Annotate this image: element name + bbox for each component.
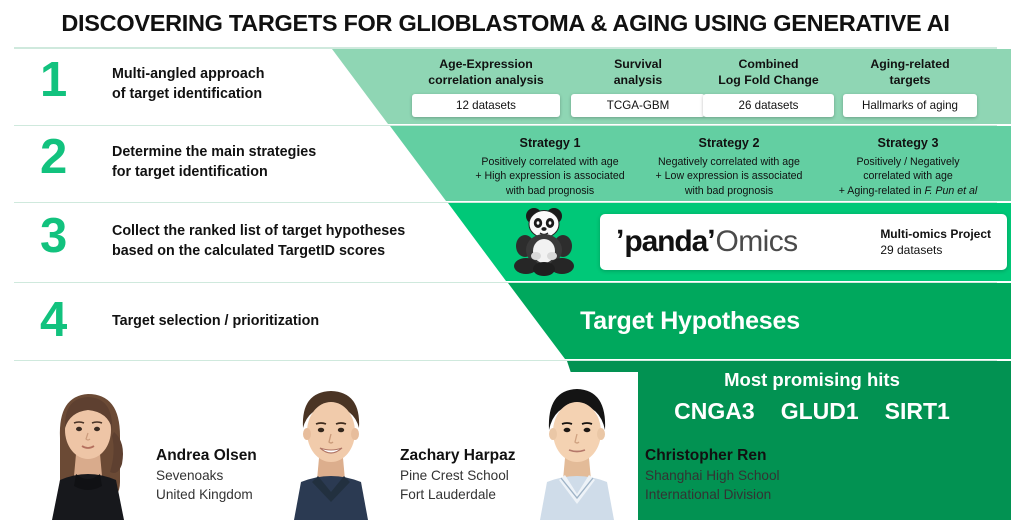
strategy-3-line3-text: + Aging-related in: [839, 185, 925, 197]
analysis-column-1: Age-Expression correlation analysis 12 d…: [412, 57, 560, 117]
row-separator-top: [14, 47, 997, 49]
strategy-2-title: Strategy 2: [639, 136, 819, 150]
pandaomics-project-sub: 29 datasets: [880, 242, 991, 258]
strategy-3-title: Strategy 3: [818, 136, 998, 150]
strategy-3-line3: + Aging-related in F. Pun et al: [818, 184, 998, 198]
strategy-1-line1: Positively correlated with age: [460, 155, 640, 169]
analysis-column-1-line2: correlation analysis: [412, 73, 560, 89]
person-3-line1: Shanghai High School: [645, 468, 780, 483]
analysis-column-2: Survival analysis TCGA-GBM: [571, 57, 705, 117]
step-text-3-line1: Collect the ranked list of target hypoth…: [112, 221, 405, 241]
step-text-1: Multi-angled approach of target identifi…: [112, 64, 265, 105]
analysis-column-4-line1: Aging-related: [843, 57, 977, 73]
portrait-zachary-harpaz: [268, 372, 394, 520]
step-number-2: 2: [40, 133, 100, 182]
most-promising-hits-title: Most promising hits: [724, 369, 900, 391]
step-text-2-line2: for target identification: [112, 162, 316, 182]
portrait-andrea-olsen: [28, 372, 148, 520]
row-separator-2: [14, 202, 997, 204]
step-text-3-line2: based on the calculated TargetID scores: [112, 241, 405, 261]
row-separator-4: [14, 360, 997, 362]
analysis-column-4: Aging-related targets Hallmarks of aging: [843, 57, 977, 117]
gene-cnga3: CNGA3: [674, 398, 755, 425]
step-text-1-line1: Multi-angled approach: [112, 64, 265, 84]
strategy-3-line2: correlated with age: [818, 169, 998, 183]
analysis-column-1-chip[interactable]: 12 datasets: [412, 94, 560, 117]
step-number-3: 3: [40, 212, 100, 261]
person-2-line1: Pine Crest School: [400, 468, 509, 483]
pandaomics-tick-right-icon: ʼ: [707, 224, 715, 258]
strategy-2-line3: with bad prognosis: [639, 184, 819, 198]
analysis-column-3-line1: Combined: [703, 57, 834, 73]
person-2-name: Zachary Harpaz: [400, 447, 515, 465]
row-separator-1: [14, 125, 997, 127]
portrait-christopher-ren: [516, 372, 638, 520]
most-promising-hits-genes: CNGA3 GLUD1 SIRT1: [674, 398, 950, 425]
analysis-column-4-chip[interactable]: Hallmarks of aging: [843, 94, 977, 117]
person-2-line2: Fort Lauderdale: [400, 487, 496, 502]
strategy-3-body: Positively / Negatively correlated with …: [818, 155, 998, 198]
person-1-line2: United Kingdom: [156, 487, 253, 502]
pandaomics-project-label: Multi-omics Project 29 datasets: [880, 226, 991, 258]
step-text-4: Target selection / prioritization: [112, 311, 319, 331]
pandaomics-wordmark: ʼpandaʼOmics: [616, 225, 798, 259]
strategy-1-line2: + High expression is associated: [460, 169, 640, 183]
strategy-1-line3: with bad prognosis: [460, 184, 640, 198]
person-3-name: Christopher Ren: [645, 447, 766, 465]
analysis-column-1-line1: Age-Expression: [412, 57, 560, 73]
step-number-1: 1: [40, 56, 100, 105]
person-1-name: Andrea Olsen: [156, 447, 257, 465]
pandaomics-project-title: Multi-omics Project: [880, 226, 991, 242]
step-text-2-line1: Determine the main strategies: [112, 142, 316, 162]
person-3-line2: International Division: [645, 487, 771, 502]
step-text-2: Determine the main strategies for target…: [112, 142, 316, 183]
analysis-column-3-chip[interactable]: 26 datasets: [703, 94, 834, 117]
strategy-3-line1: Positively / Negatively: [818, 155, 998, 169]
analysis-column-2-chip[interactable]: TCGA-GBM: [571, 94, 705, 117]
step-text-3: Collect the ranked list of target hypoth…: [112, 221, 405, 262]
pandaomics-logo-omics: Omics: [716, 225, 798, 259]
strategy-2-body: Negatively correlated with age + Low exp…: [639, 155, 819, 198]
analysis-column-1-head: Age-Expression correlation analysis: [412, 57, 560, 88]
row-separator-3: [14, 282, 997, 284]
analysis-column-4-head: Aging-related targets: [843, 57, 977, 88]
analysis-column-4-line2: targets: [843, 73, 977, 89]
target-hypotheses-label: Target Hypotheses: [580, 307, 800, 336]
strategy-2-line2: + Low expression is associated: [639, 169, 819, 183]
pandaomics-card[interactable]: ʼpandaʼOmics Multi-omics Project 29 data…: [600, 214, 1007, 270]
gene-sirt1: SIRT1: [885, 398, 950, 425]
strategy-column-1: Strategy 1 Positively correlated with ag…: [460, 136, 640, 198]
person-1-line1: Sevenoaks: [156, 468, 223, 483]
step-text-4-line1: Target selection / prioritization: [112, 311, 319, 331]
poster-root: DISCOVERING TARGETS FOR GLIOBLASTOMA & A…: [0, 0, 1011, 520]
strategy-2-line1: Negatively correlated with age: [639, 155, 819, 169]
gene-glud1: GLUD1: [781, 398, 859, 425]
strategy-column-3: Strategy 3 Positively / Negatively corre…: [818, 136, 998, 198]
strategy-1-body: Positively correlated with age + High ex…: [460, 155, 640, 198]
step-text-1-line2: of target identification: [112, 84, 265, 104]
analysis-column-2-line1: Survival: [571, 57, 705, 73]
pandaomics-tick-left-icon: ʼ: [616, 224, 624, 258]
step-number-4: 4: [40, 296, 100, 345]
analysis-column-3-head: Combined Log Fold Change: [703, 57, 834, 88]
pandaomics-logo-panda: panda: [624, 225, 707, 259]
analysis-column-3: Combined Log Fold Change 26 datasets: [703, 57, 834, 117]
panda-mascot-icon: [506, 206, 582, 278]
analysis-column-2-head: Survival analysis: [571, 57, 705, 88]
analysis-column-3-line2: Log Fold Change: [703, 73, 834, 89]
strategy-column-2: Strategy 2 Negatively correlated with ag…: [639, 136, 819, 198]
strategy-3-citation: F. Pun et al: [924, 185, 977, 197]
strategy-1-title: Strategy 1: [460, 136, 640, 150]
analysis-column-2-line2: analysis: [571, 73, 705, 89]
